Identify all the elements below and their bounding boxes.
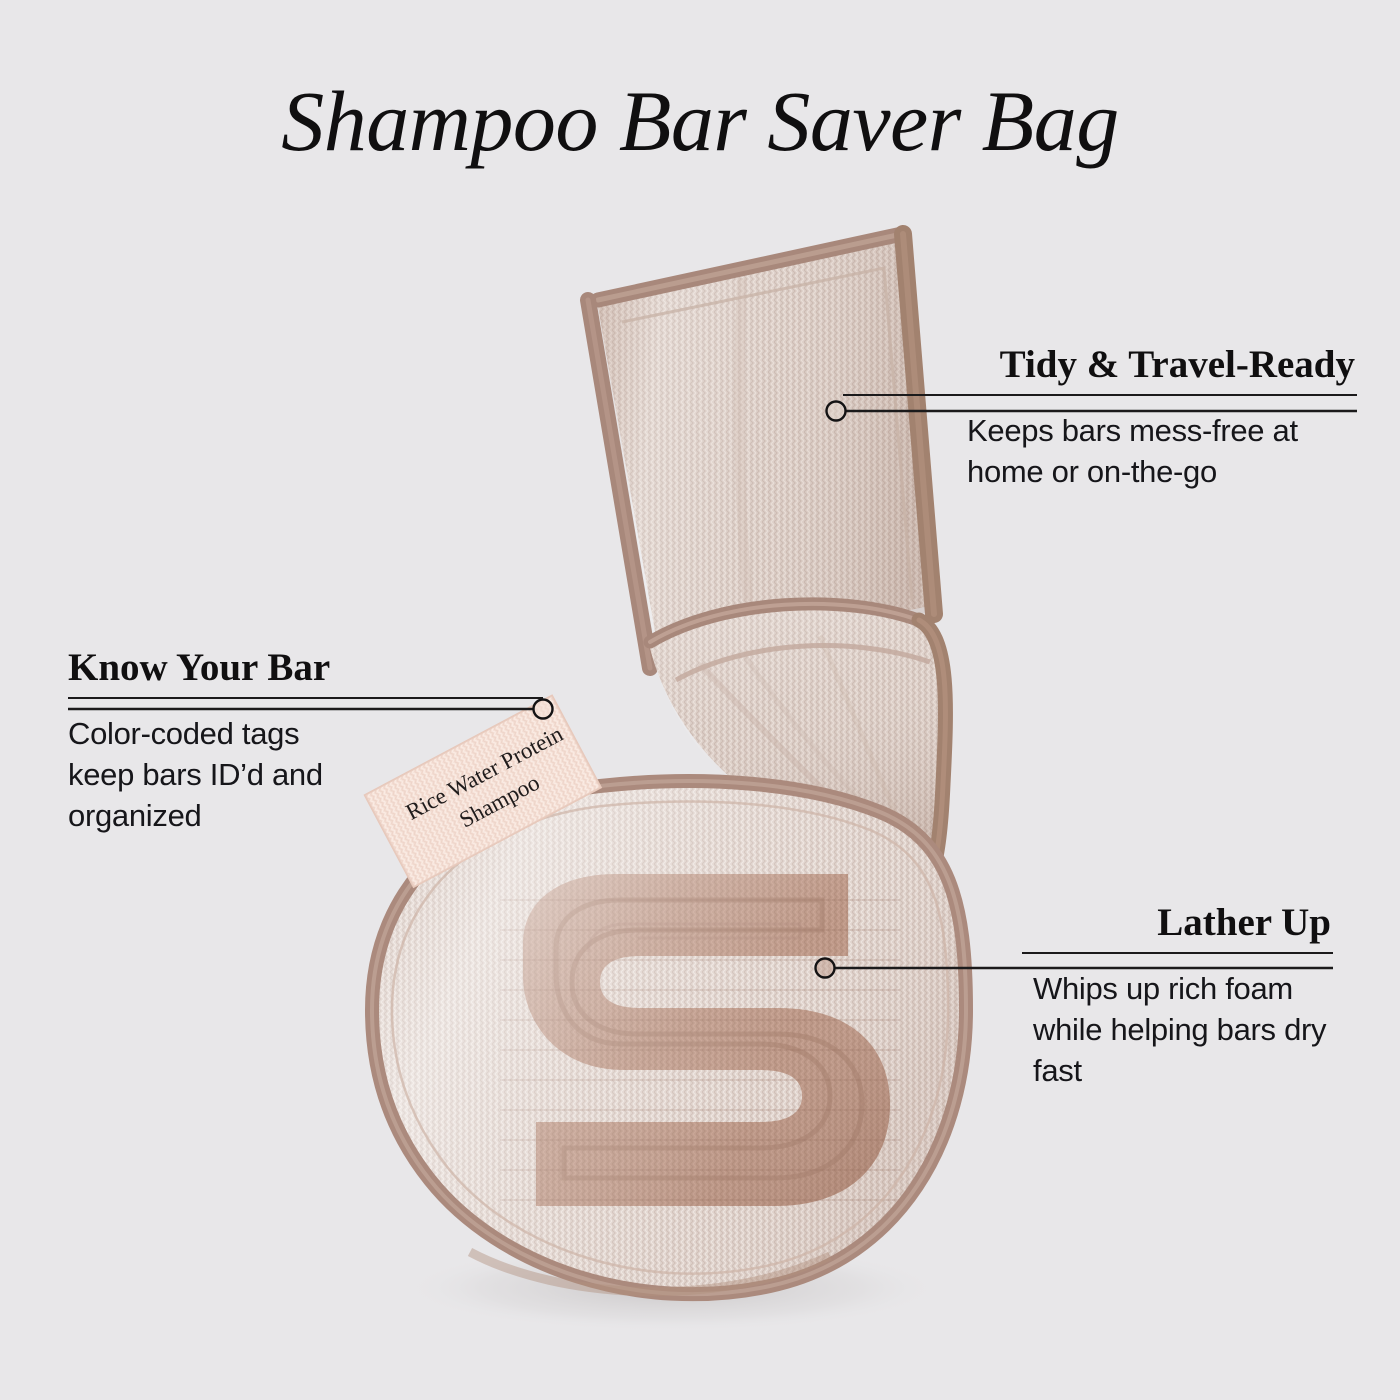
callout-body-tidy: Keeps bars mess-free at home or on-the-g… xyxy=(967,396,1357,492)
callout-body-lather: Whips up rich foam while helping bars dr… xyxy=(1033,954,1333,1092)
callout-body-know: Color-coded tags keep bars ID’d and orga… xyxy=(68,699,368,837)
callout-heading-know: Know Your Bar xyxy=(68,648,543,697)
callout-heading-lather: Lather Up xyxy=(1022,903,1333,952)
callout-lather-up: Lather Up Whips up rich foam while helpi… xyxy=(1022,903,1333,1092)
callout-tidy-travel-ready: Tidy & Travel-Ready Keeps bars mess-free… xyxy=(843,345,1357,492)
callout-heading-tidy: Tidy & Travel-Ready xyxy=(843,345,1357,394)
infographic-canvas: Shampoo Bar Saver Bag xyxy=(0,0,1400,1400)
callout-know-your-bar: Know Your Bar Color-coded tags keep bars… xyxy=(68,648,543,837)
